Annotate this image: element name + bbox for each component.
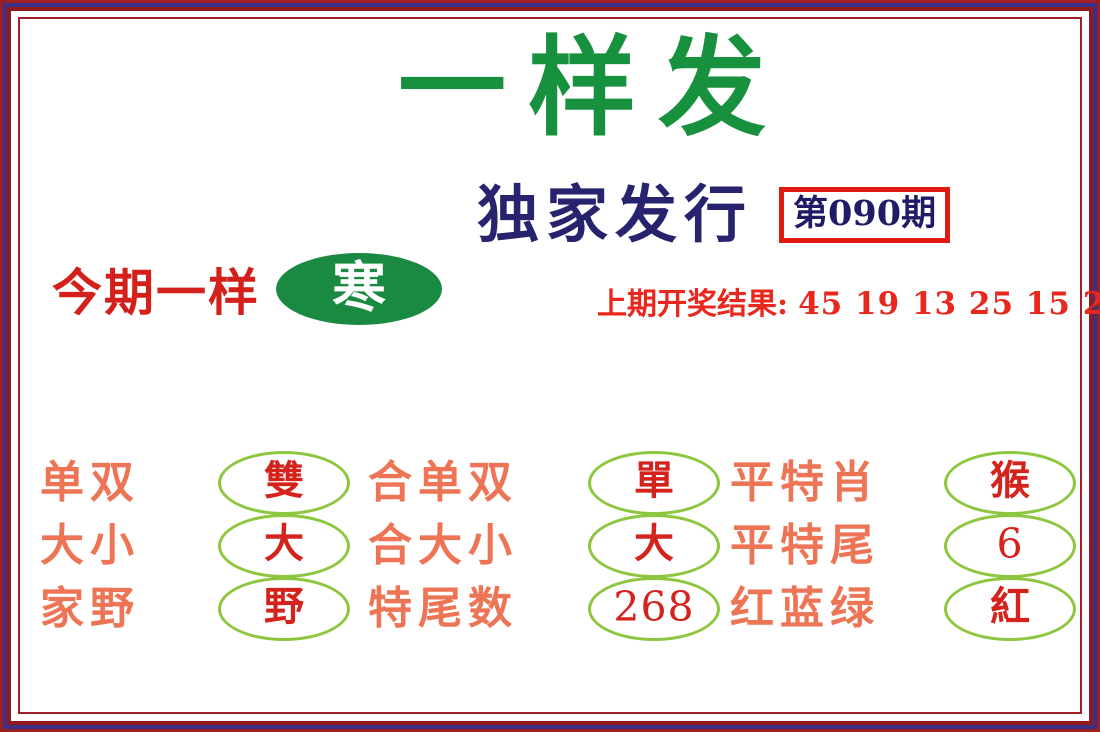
result-value-oval: 猴: [944, 451, 1076, 515]
results-grid: 单双 雙 大小 大 家野 野: [30, 451, 1076, 640]
result-label: 合大小: [360, 524, 588, 568]
result-row: 特尾数 268: [360, 577, 720, 640]
result-row: 合大小 大: [360, 514, 720, 577]
result-value-oval: 單: [588, 451, 720, 515]
result-label: 平特尾: [720, 524, 944, 568]
result-label: 红蓝绿: [720, 587, 944, 631]
forecast-label: 今期一样: [52, 253, 260, 325]
forecast-value: 寒: [332, 260, 386, 318]
result-row: 合单双 單: [360, 451, 720, 514]
result-row: 大小 大: [30, 514, 360, 577]
result-value: 雙: [264, 461, 304, 504]
result-value: 6: [996, 524, 1023, 568]
results-column-3: 平特肖 猴 平特尾 6 红蓝绿 紅: [720, 451, 1076, 640]
masthead-subtitle: 独家发行: [477, 184, 753, 246]
forecast-value-oval: 寒: [276, 253, 442, 325]
lottery-poster: 一样发 独家发行 第090期 今期一样 寒 上期开奖结果: 45 19 13 2…: [0, 0, 1100, 732]
result-label: 单双: [30, 461, 218, 505]
result-label: 平特肖: [720, 461, 944, 505]
last-draw-result: 上期开奖结果: 45 19 13 25 15 27+14: [597, 279, 1100, 323]
result-value-oval: 野: [218, 577, 350, 641]
forecast-strap: 今期一样 寒: [52, 253, 442, 325]
last-draw-label: 上期开奖结果:: [597, 279, 788, 323]
result-label: 合单双: [360, 461, 588, 505]
results-column-2: 合单双 單 合大小 大 特尾数 268: [360, 451, 720, 640]
result-value-oval: 大: [218, 514, 350, 578]
result-value: 紅: [990, 587, 1030, 630]
result-value-oval: 大: [588, 514, 720, 578]
page-title: 一样发: [272, 33, 892, 145]
result-value: 單: [634, 461, 674, 504]
result-row: 单双 雙: [30, 451, 360, 514]
result-value: 猴: [990, 461, 1030, 504]
result-value-oval: 雙: [218, 451, 350, 515]
result-value-oval: 6: [944, 514, 1076, 578]
result-row: 平特尾 6: [720, 514, 1076, 577]
result-label: 大小: [30, 524, 218, 568]
issue-number-badge: 第090期: [779, 187, 950, 243]
result-row: 平特肖 猴: [720, 451, 1076, 514]
result-row: 红蓝绿 紅: [720, 577, 1076, 640]
poster-canvas: 一样发 独家发行 第090期 今期一样 寒 上期开奖结果: 45 19 13 2…: [22, 21, 1078, 711]
results-column-1: 单双 雙 大小 大 家野 野: [30, 451, 360, 640]
result-value: 野: [264, 587, 304, 630]
masthead: 一样发: [272, 33, 892, 145]
result-label: 特尾数: [360, 587, 588, 631]
result-label: 家野: [30, 587, 218, 631]
result-value: 大: [264, 524, 304, 567]
result-value: 大: [634, 524, 674, 567]
result-row: 家野 野: [30, 577, 360, 640]
last-draw-numbers: 45 19 13 25 15 27+14: [798, 286, 1100, 322]
result-value: 268: [613, 587, 694, 631]
subtitle-row: 独家发行 第090期: [477, 176, 1077, 254]
result-value-oval: 268: [588, 577, 720, 641]
result-value-oval: 紅: [944, 577, 1076, 641]
